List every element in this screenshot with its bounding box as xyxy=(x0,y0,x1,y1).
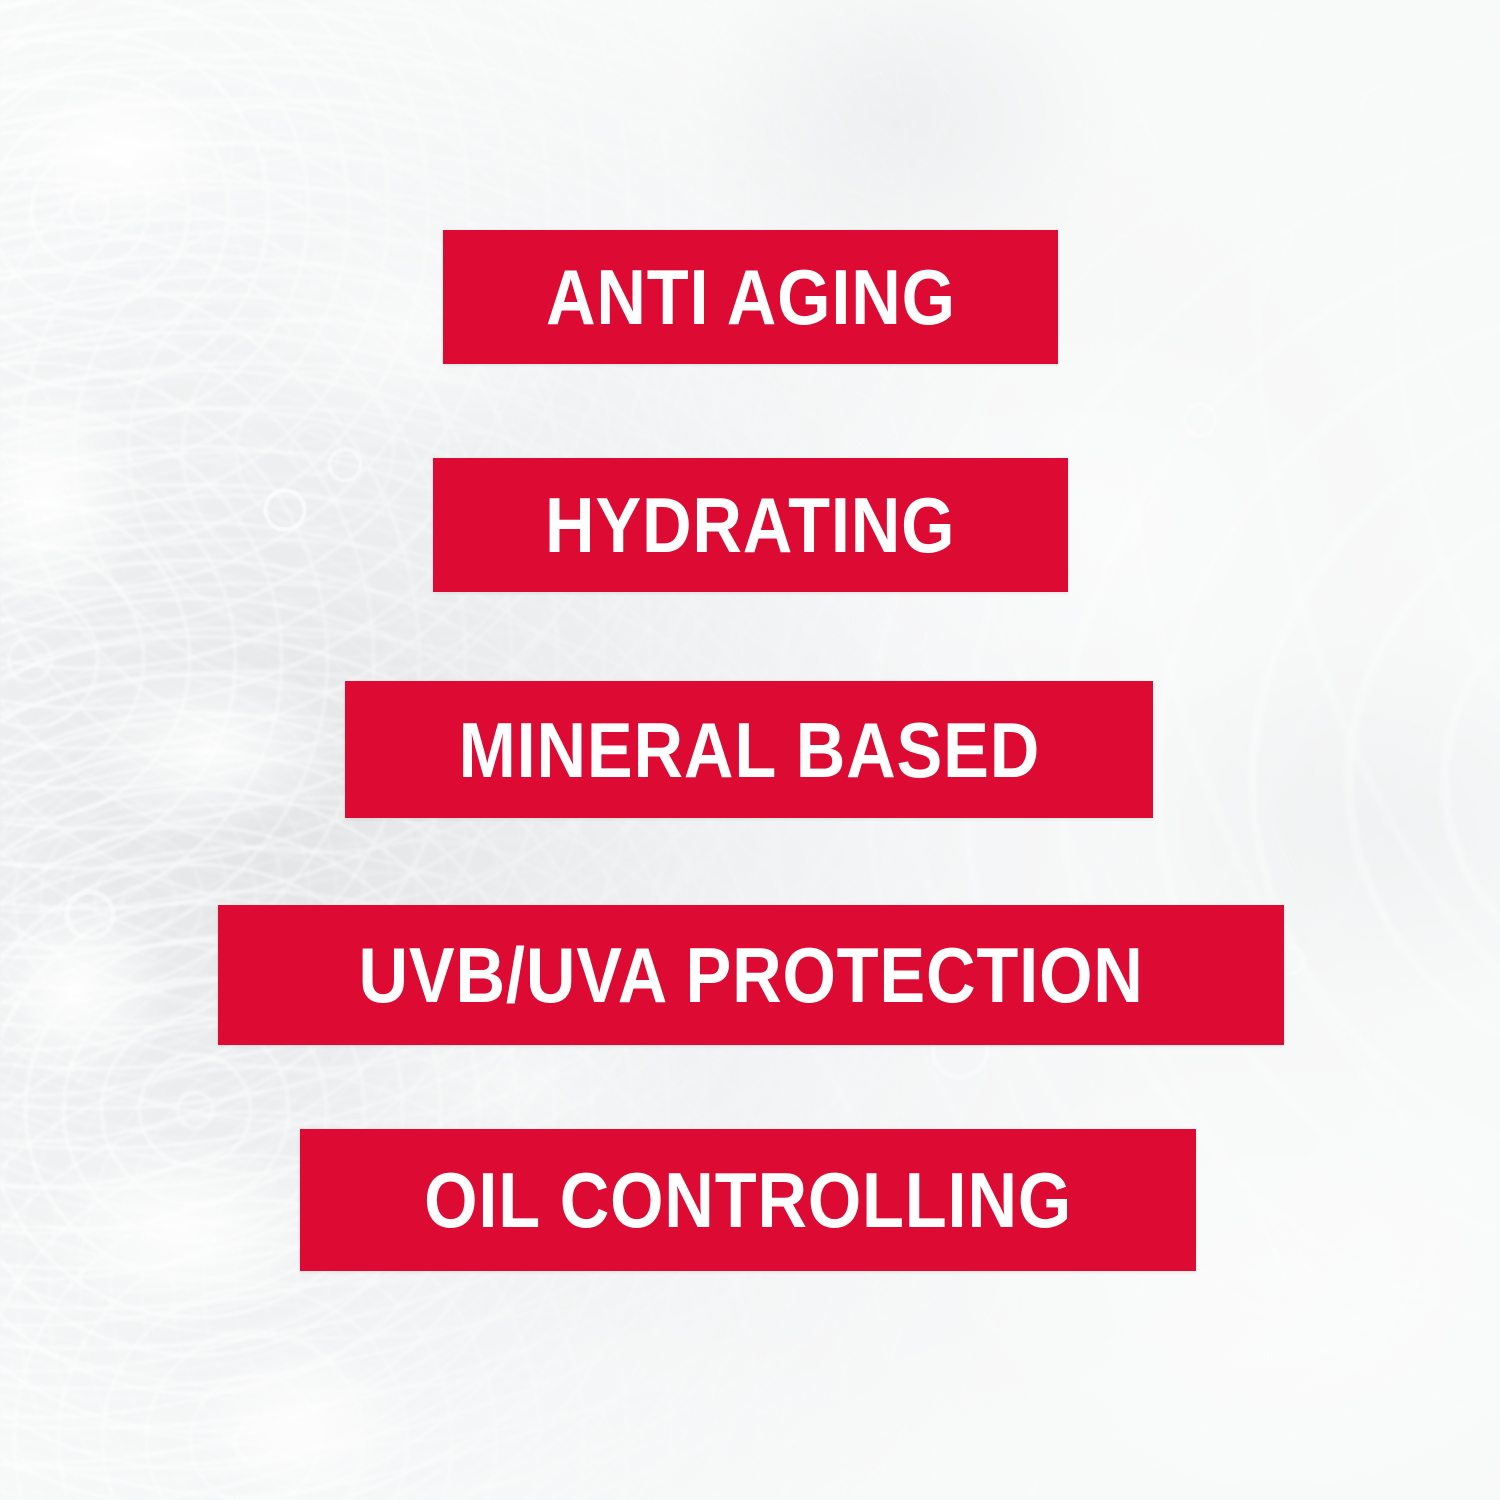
benefit-banner-label: MINERAL BASED xyxy=(458,711,1039,789)
benefit-banner-uvb-uva-protection: UVB/UVA PROTECTION xyxy=(218,905,1284,1045)
benefit-banner-label: HYDRATING xyxy=(545,486,955,564)
benefit-banner-oil-controlling: OIL CONTROLLING xyxy=(300,1129,1196,1271)
benefit-banner-mineral-based: MINERAL BASED xyxy=(345,681,1153,818)
benefit-banner-label: ANTI AGING xyxy=(546,258,956,336)
benefit-banner-hydrating: HYDRATING xyxy=(433,458,1068,592)
benefit-banner-list: ANTI AGING HYDRATING MINERAL BASED UVB/U… xyxy=(0,0,1500,1500)
product-benefits-infographic: ANTI AGING HYDRATING MINERAL BASED UVB/U… xyxy=(0,0,1500,1500)
benefit-banner-anti-aging: ANTI AGING xyxy=(443,230,1058,364)
benefit-banner-label: OIL CONTROLLING xyxy=(424,1161,1072,1239)
benefit-banner-label: UVB/UVA PROTECTION xyxy=(358,936,1143,1014)
